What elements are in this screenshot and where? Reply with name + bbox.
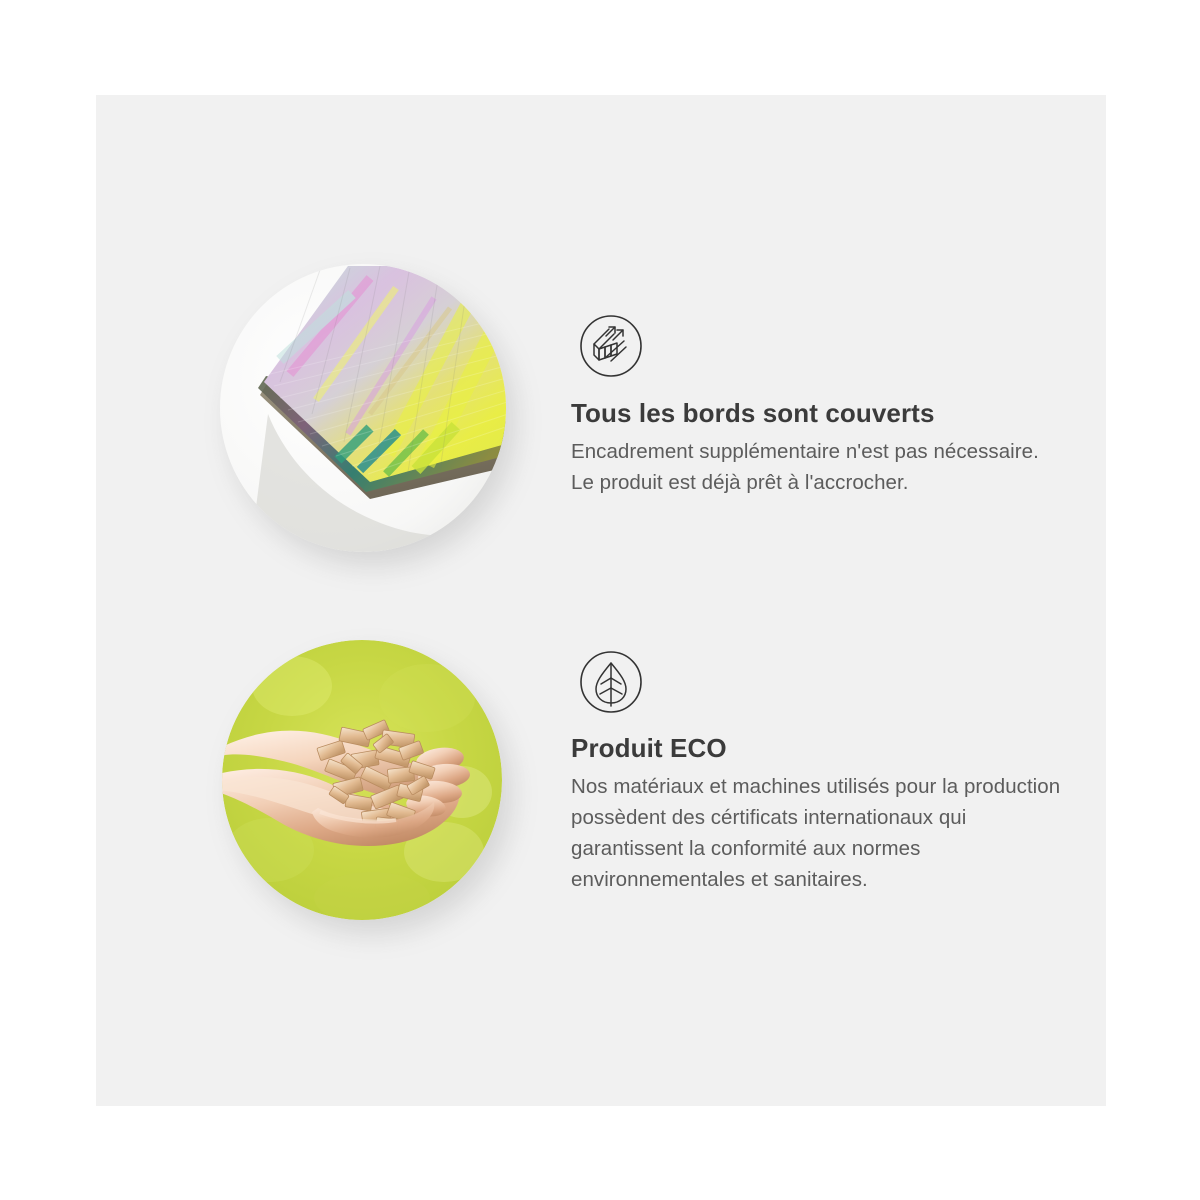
feature-title: Tous les bords sont couverts: [571, 396, 1041, 430]
canvas-wrapped-edges-icon: [579, 314, 643, 378]
leaf-icon: [579, 650, 643, 714]
feature-description: Nos matériaux et machines utilisés pour …: [571, 771, 1081, 895]
feature-text-edges-covered: Tous les bords sont couverts Encadrement…: [571, 396, 1041, 498]
content-panel: [96, 95, 1106, 1106]
hands-wood-chips-photo: [222, 640, 502, 920]
feature-text-eco-product: Produit ECO Nos matériaux et machines ut…: [571, 731, 1081, 895]
feature-description: Encadrement supplémentaire n'est pas néc…: [571, 436, 1041, 498]
infographic-page: Tous les bords sont couverts Encadrement…: [0, 0, 1200, 1200]
canvas-corner-photo: [220, 264, 506, 552]
feature-title: Produit ECO: [571, 731, 1081, 765]
